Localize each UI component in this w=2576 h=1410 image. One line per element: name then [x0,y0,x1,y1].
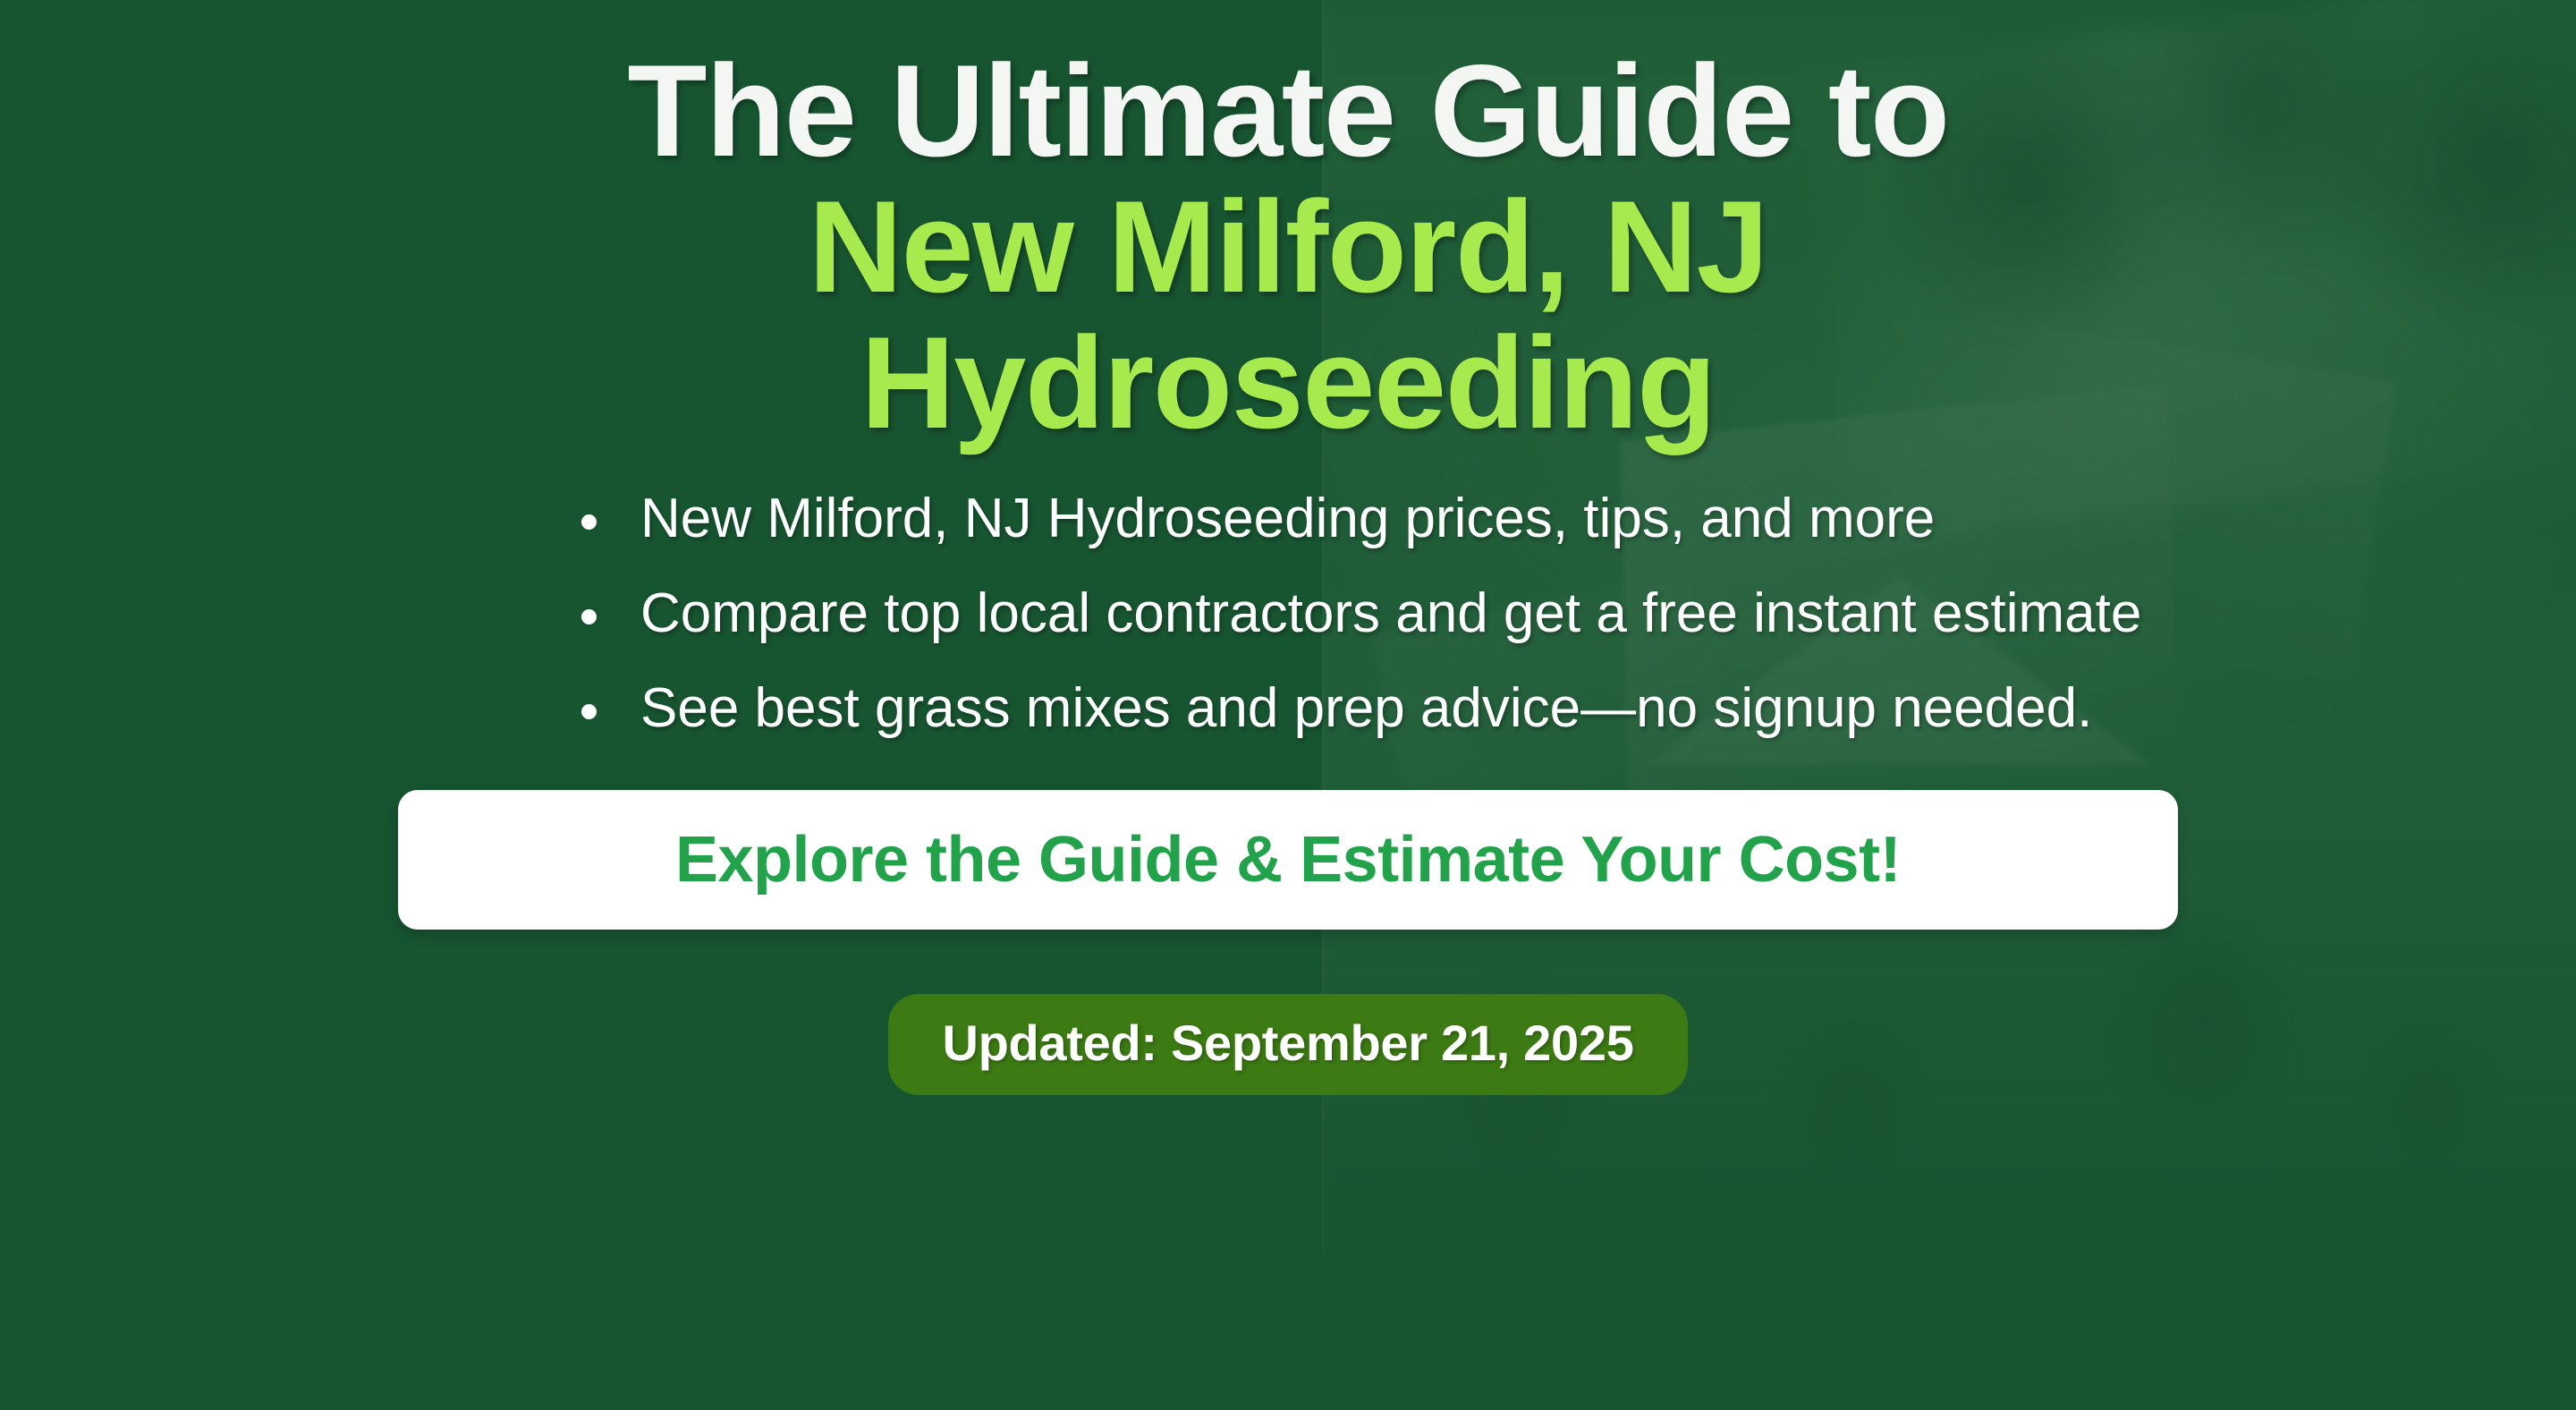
list-item-label: Compare top local contractors and get a … [640,582,2141,644]
badge-row: Updated: September 21, 2025 [0,994,2576,1095]
explore-guide-button[interactable]: Explore the Guide & Estimate Your Cost! [398,790,2178,930]
bullet-dot-icon [581,609,597,624]
bullet-dot-icon [581,704,597,719]
list-item: Compare top local contractors and get a … [555,586,2317,641]
headline-line-2: New Milford, NJ [259,179,2317,315]
updated-date-badge: Updated: September 21, 2025 [888,994,1687,1095]
bullet-dot-icon [581,514,597,530]
banner-content: The Ultimate Guide to New Milford, NJ Hy… [0,0,2576,1410]
page-title: The Ultimate Guide to New Milford, NJ Hy… [259,43,2317,450]
list-item-label: See best grass mixes and prep advice—no … [640,677,2092,739]
list-item-label: New Milford, NJ Hydroseeding prices, tip… [640,488,1935,549]
headline-line-1: The Ultimate Guide to [627,38,1948,183]
headline-line-3: Hydroseeding [259,315,2317,451]
cta-row: Explore the Guide & Estimate Your Cost! [0,790,2576,930]
list-item: New Milford, NJ Hydroseeding prices, tip… [555,491,2317,547]
list-item: See best grass mixes and prep advice—no … [555,681,2317,736]
hero-banner: The Ultimate Guide to New Milford, NJ Hy… [0,0,2576,1410]
benefit-list: New Milford, NJ Hydroseeding prices, tip… [259,491,2317,736]
